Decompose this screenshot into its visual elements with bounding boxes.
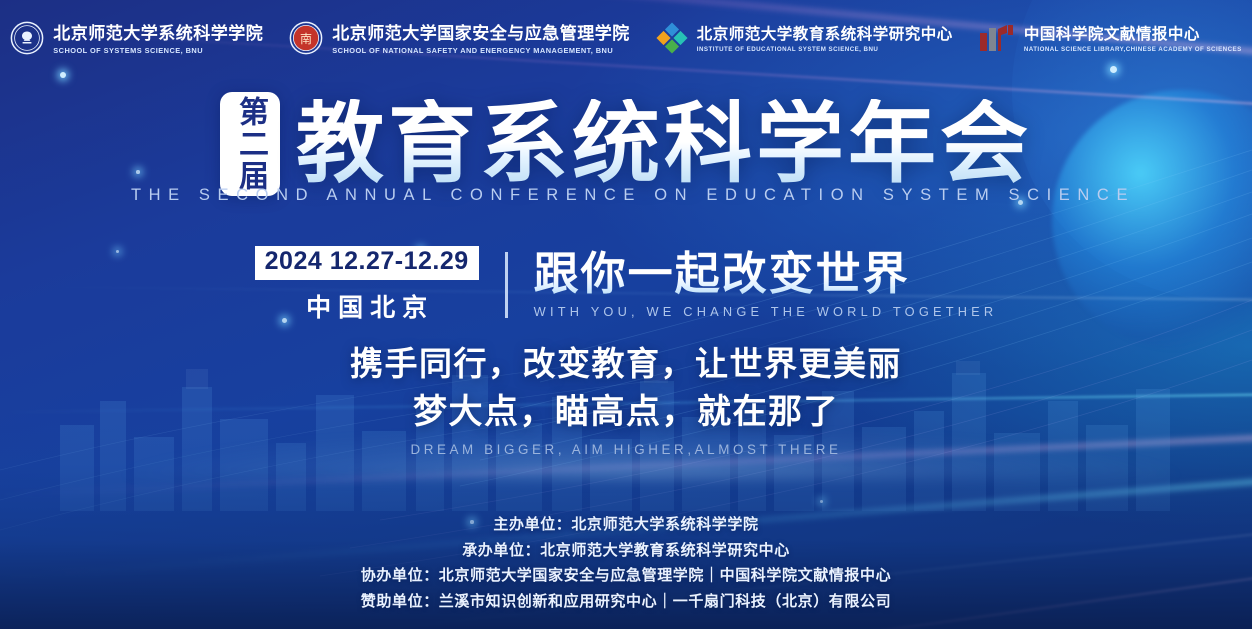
library-mark-icon [979,23,1015,58]
organizer-line-coorganizer: 协办单位：北京师范大学国家安全与应急管理学院｜中国科学院文献情报中心 [0,563,1252,589]
organizer-line-host: 主办单位：北京师范大学系统科学学院 [0,512,1252,538]
sparkle-dot [1110,66,1117,73]
slogan-block: 携手同行，改变教育，让世界更美丽 梦大点，瞄高点，就在那了 DREAM BIGG… [0,340,1252,457]
event-dates: 2024 12.27-12.29 [255,246,479,280]
ordinal-badge-label: 第二届 [228,96,272,192]
logo-title-cn: 北京师范大学国家安全与应急管理学院 [332,24,630,44]
organizer-line-sponsor: 赞助单位：兰溪市知识创新和应用研究中心｜一千扇门科技（北京）有限公司 [0,589,1252,615]
logo-school-of-systems-science: 北京师范大学系统科学学院 SCHOOL OF SYSTEMS SCIENCE, … [10,21,263,60]
logo-school-of-national-safety: 南 北京师范大学国家安全与应急管理学院 SCHOOL OF NATIONAL S… [289,21,630,60]
bnu-red-seal-icon: 南 [289,21,323,60]
logo-title-cn: 中国科学院文献情报中心 [1024,26,1242,44]
bnu-seal-icon [10,21,44,60]
event-slogan-en: WITH YOU, WE CHANGE THE WORLD TOGETHER [534,304,998,319]
sponsor-logo-bar: 北京师范大学系统科学学院 SCHOOL OF SYSTEMS SCIENCE, … [0,14,1252,66]
logo-title-en: INSTITUTE OF EDUCATIONAL SYSTEM SCIENCE,… [697,46,953,54]
main-title-row: 第二届 教育系统科学年会 [0,92,1252,196]
logo-title-cn: 北京师范大学教育系统科学研究中心 [697,26,953,44]
vertical-divider [505,252,508,318]
sparkle-dot [820,500,823,503]
diamond-mosaic-icon [656,22,688,59]
event-location: 中国北京 [299,288,434,324]
conference-poster: 北京师范大学系统科学学院 SCHOOL OF SYSTEMS SCIENCE, … [0,0,1252,629]
event-slogan-cn: 跟你一起改变世界 [534,250,998,299]
logo-title-en: SCHOOL OF SYSTEMS SCIENCE, BNU [53,46,263,56]
slogan-line-en: DREAM BIGGER, AIM HIGHER,ALMOST THERE [0,442,1252,457]
logo-title-cn: 北京师范大学系统科学学院 [53,24,263,44]
subtitle-english: THE SECOND ANNUAL CONFERENCE ON EDUCATIO… [0,186,1252,205]
logo-national-science-library-cas: 中国科学院文献情报中心 NATIONAL SCIENCE LIBRARY,CHI… [979,23,1242,58]
sparkle-dot [60,72,66,78]
ordinal-badge: 第二届 [220,92,280,196]
organizer-block: 主办单位：北京师范大学系统科学学院 承办单位：北京师范大学教育系统科学研究中心 … [0,512,1252,615]
logo-title-en: NATIONAL SCIENCE LIBRARY,CHINESE ACADEMY… [1024,46,1242,54]
organizer-line-undertaker: 承办单位：北京师范大学教育系统科学研究中心 [0,538,1252,564]
event-date-location: 2024 12.27-12.29 中国北京 [255,246,479,324]
logo-title-en: SCHOOL OF NATIONAL SAFETY AND ENERGENCY … [332,46,630,56]
event-info-band: 2024 12.27-12.29 中国北京 跟你一起改变世界 WITH YOU,… [0,246,1252,324]
svg-text:南: 南 [300,31,312,46]
event-slogan-block: 跟你一起改变世界 WITH YOU, WE CHANGE THE WORLD T… [534,250,998,319]
slogan-line-2: 梦大点，瞄高点，就在那了 [0,388,1252,437]
slogan-line-1: 携手同行，改变教育，让世界更美丽 [0,340,1252,388]
page-title: 教育系统科学年会 [296,99,1032,189]
logo-institute-of-educational-system-science: 北京师范大学教育系统科学研究中心 INSTITUTE OF EDUCATIONA… [656,22,953,59]
